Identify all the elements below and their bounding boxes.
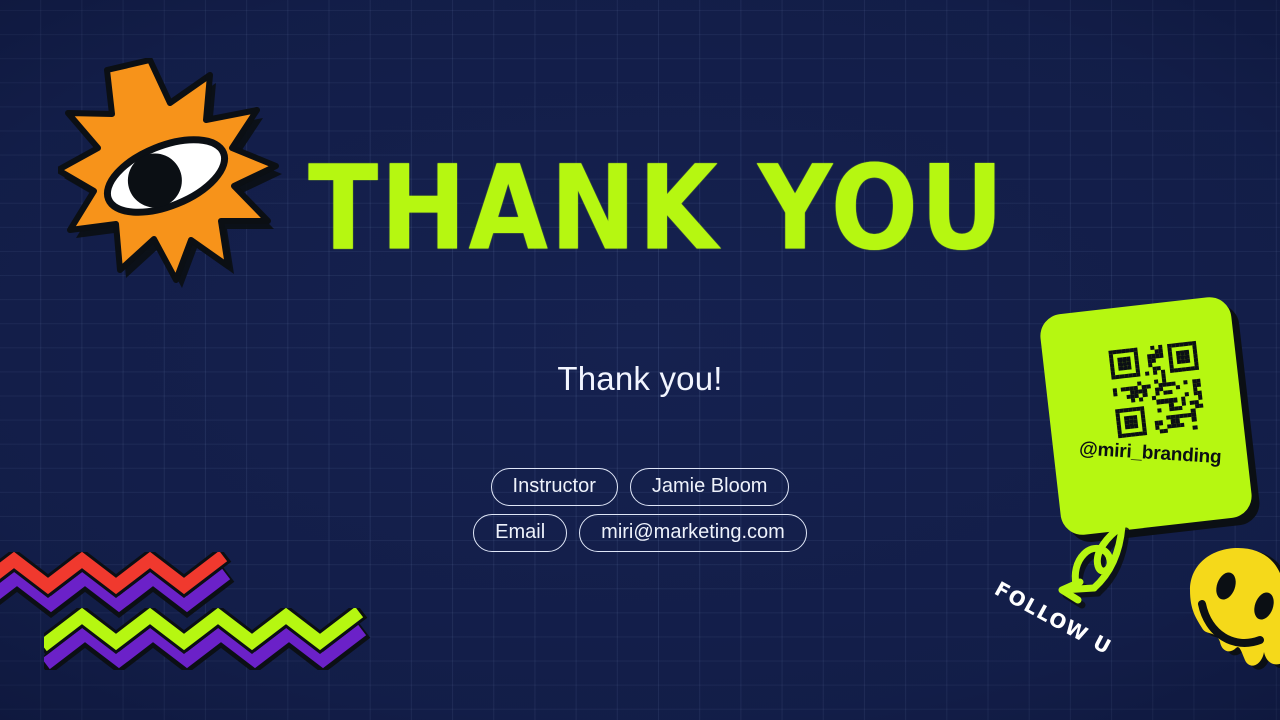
page-title: THANK YOU [308,150,1006,266]
thank-you-slide: THANK YOU Thank you! Instructor Jamie Bl… [0,0,1280,720]
melting-smiley-icon [1186,548,1280,674]
qr-card[interactable]: @miri_branding [1038,295,1254,537]
pill-label-instructor[interactable]: Instructor [491,468,618,506]
qr-handle-label: @miri_branding [1054,437,1247,471]
zigzag-line-icon-green [44,608,378,670]
qr-code-icon [1108,341,1205,438]
pill-value-instructor[interactable]: Jamie Bloom [630,468,790,506]
follow-us-text: FOLLOW US [985,578,1116,658]
starburst-eye-icon [58,58,288,288]
pill-label-email[interactable]: Email [473,514,567,552]
pill-value-email[interactable]: miri@marketing.com [579,514,807,552]
follow-us-label: FOLLOW US [985,578,1145,658]
